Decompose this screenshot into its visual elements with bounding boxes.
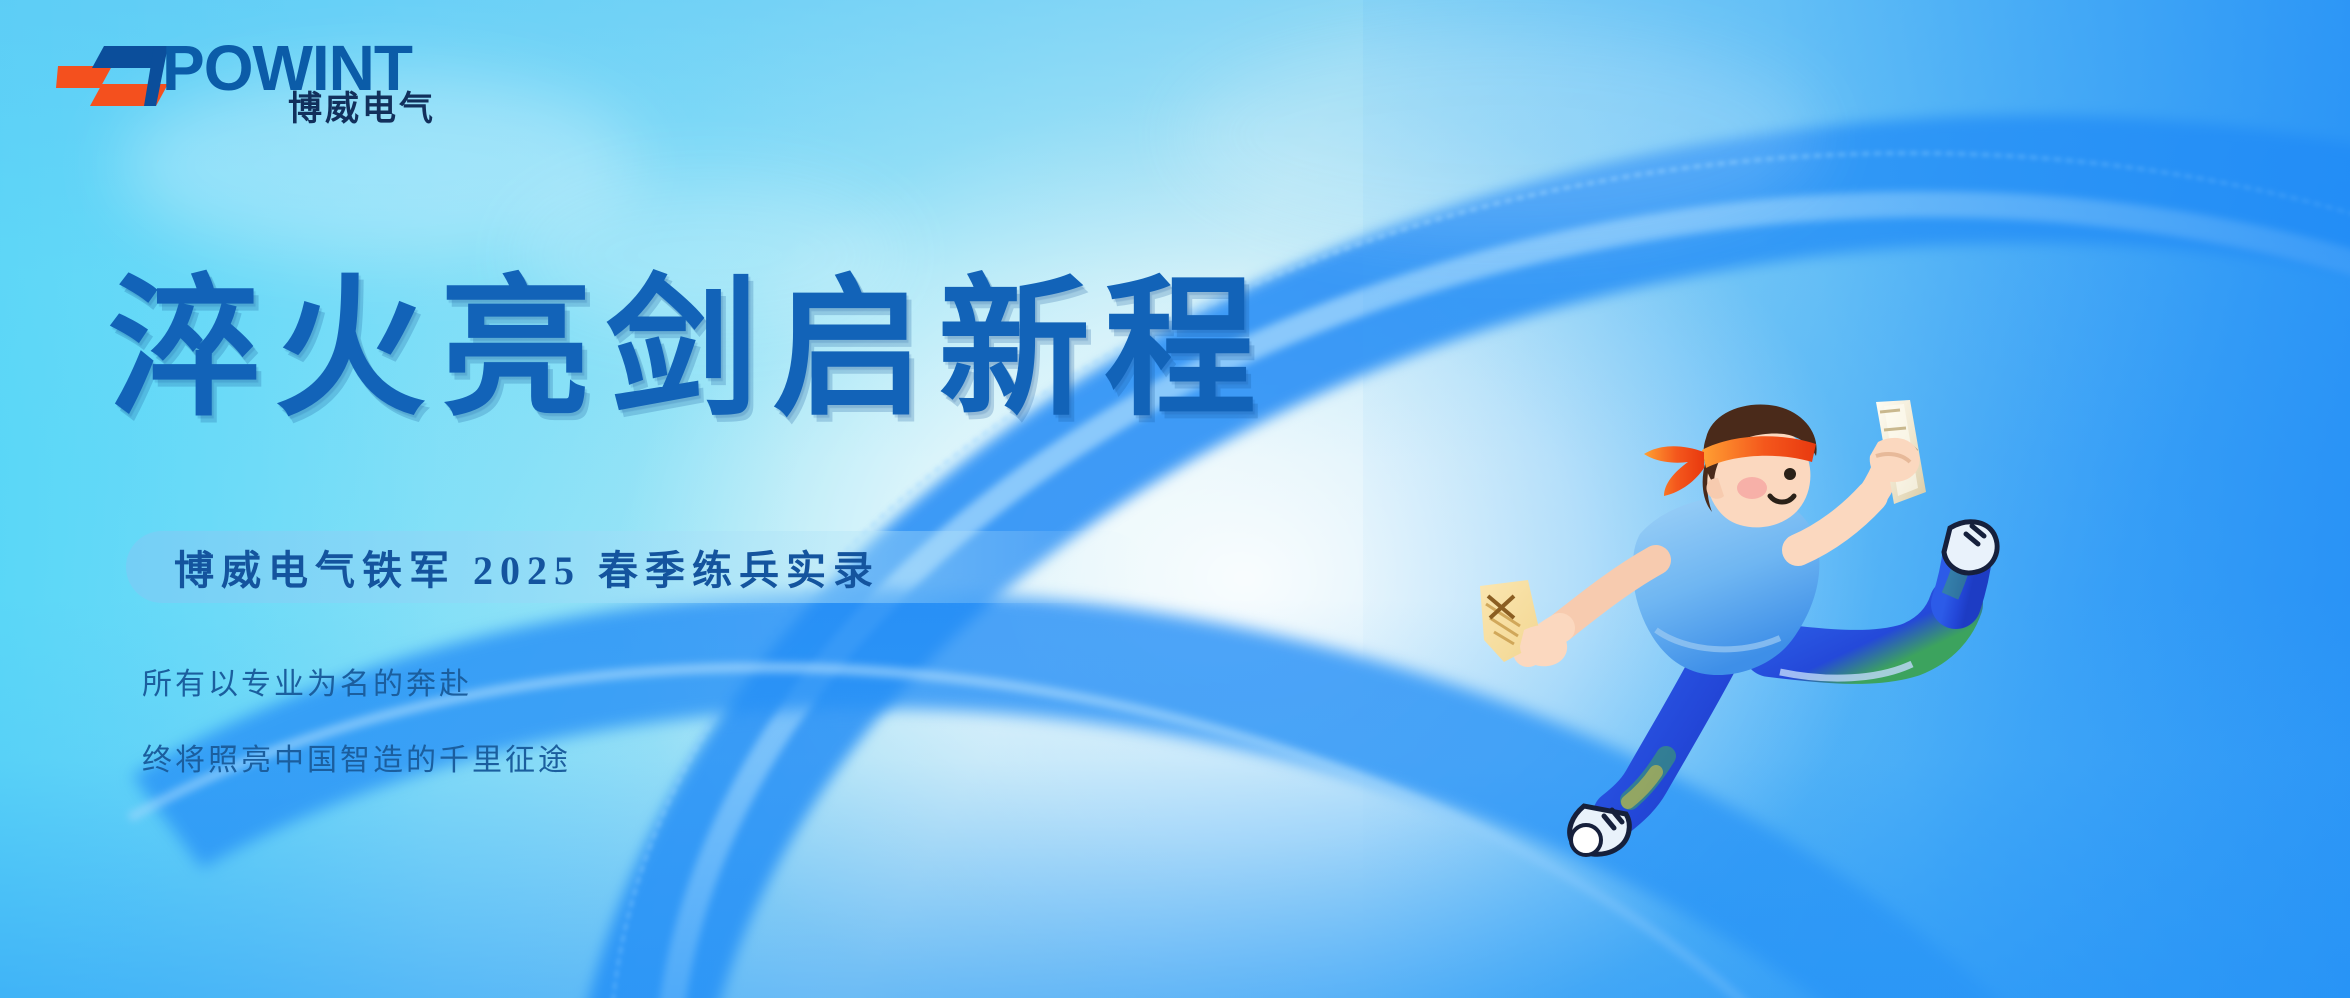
head <box>1644 404 1817 527</box>
promo-banner: POWINT 博威电气 淬火亮剑启新程 博威电气铁军 2025 春季练兵实录 所… <box>0 0 2350 998</box>
sneaker-front <box>1944 522 1997 573</box>
body-copy: 所有以专业为名的奔赴 终将照亮中国智造的千里征途 <box>142 670 571 822</box>
subtitle-text: 博威电气铁军 2025 春季练兵实录 <box>174 538 880 596</box>
sneaker-back <box>1570 806 1630 855</box>
brand-logo: POWINT 博威电气 <box>56 36 476 124</box>
page-title: 淬火亮剑启新程 <box>108 268 1270 429</box>
logo-chinese-name: 博威电气 <box>288 92 436 126</box>
running-person-illustration <box>1480 400 2000 870</box>
cloud-wisp <box>1180 30 1820 240</box>
subtitle-pill: 博威电气铁军 2025 春季练兵实录 <box>126 531 1144 603</box>
body-line-2: 终将照亮中国智造的千里征途 <box>142 746 571 776</box>
body-line-1: 所有以专业为名的奔赴 <box>142 670 571 700</box>
